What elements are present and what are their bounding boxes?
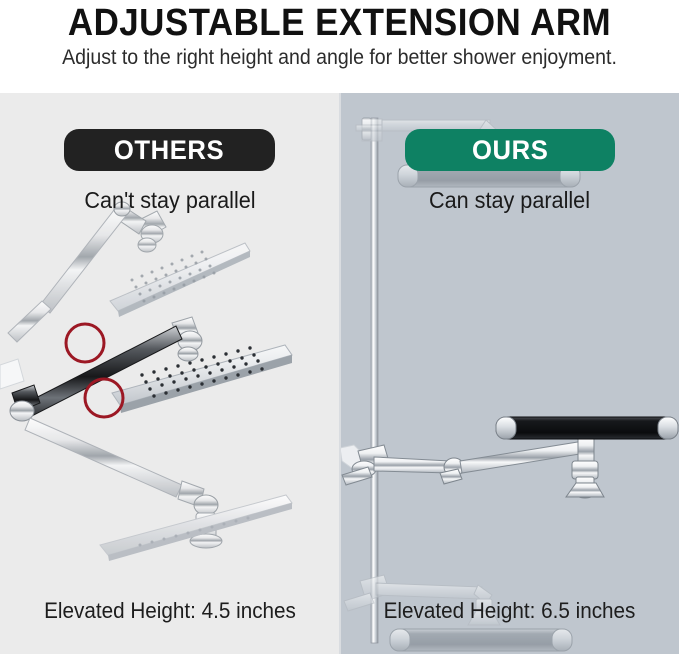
others-swivel-bottom [178, 481, 222, 548]
others-showerhead-bottom [100, 495, 292, 561]
panel-others: OTHERS Can't stay parallel Elevated Heig… [0, 93, 340, 654]
panel-divider [339, 93, 341, 654]
page-subtitle: Adjust to the right height and angle for… [24, 46, 655, 70]
sublabel-ours: Can stay parallel [350, 187, 669, 214]
others-illustration [0, 93, 340, 654]
others-arm-bottom [25, 418, 292, 561]
caption-others: Elevated Height: 4.5 inches [10, 598, 330, 624]
panel-ours: OURS Can stay parallel Elevated Height: … [340, 93, 679, 654]
ours-illustration [340, 93, 679, 654]
others-showerhead-middle [112, 345, 292, 413]
ours-showerhead-bottom [390, 629, 572, 651]
others-swivel-top [137, 211, 166, 252]
badge-others-label: OTHERS [114, 135, 224, 166]
badge-others: OTHERS [64, 129, 275, 171]
annotation-circle-lower [85, 379, 123, 417]
ours-arm-middle [342, 417, 678, 498]
badge-ours-label: OURS [472, 135, 548, 166]
others-swivel-middle [172, 317, 202, 361]
others-arm-middle [0, 317, 292, 421]
sublabel-others: Can't stay parallel [10, 187, 330, 214]
infographic-page: ADJUSTABLE EXTENSION ARM Adjust to the r… [0, 0, 679, 654]
ours-showerhead-middle-highlight [496, 417, 678, 439]
badge-ours: OURS [405, 129, 615, 171]
annotation-circle-upper [66, 324, 104, 362]
others-arm-top [8, 202, 250, 342]
header: ADJUSTABLE EXTENSION ARM Adjust to the r… [0, 0, 679, 93]
caption-ours: Elevated Height: 6.5 inches [350, 598, 669, 624]
others-showerhead-top [110, 243, 250, 317]
page-title: ADJUSTABLE EXTENSION ARM [27, 3, 652, 43]
comparison-panels: OTHERS Can't stay parallel Elevated Heig… [0, 93, 679, 654]
